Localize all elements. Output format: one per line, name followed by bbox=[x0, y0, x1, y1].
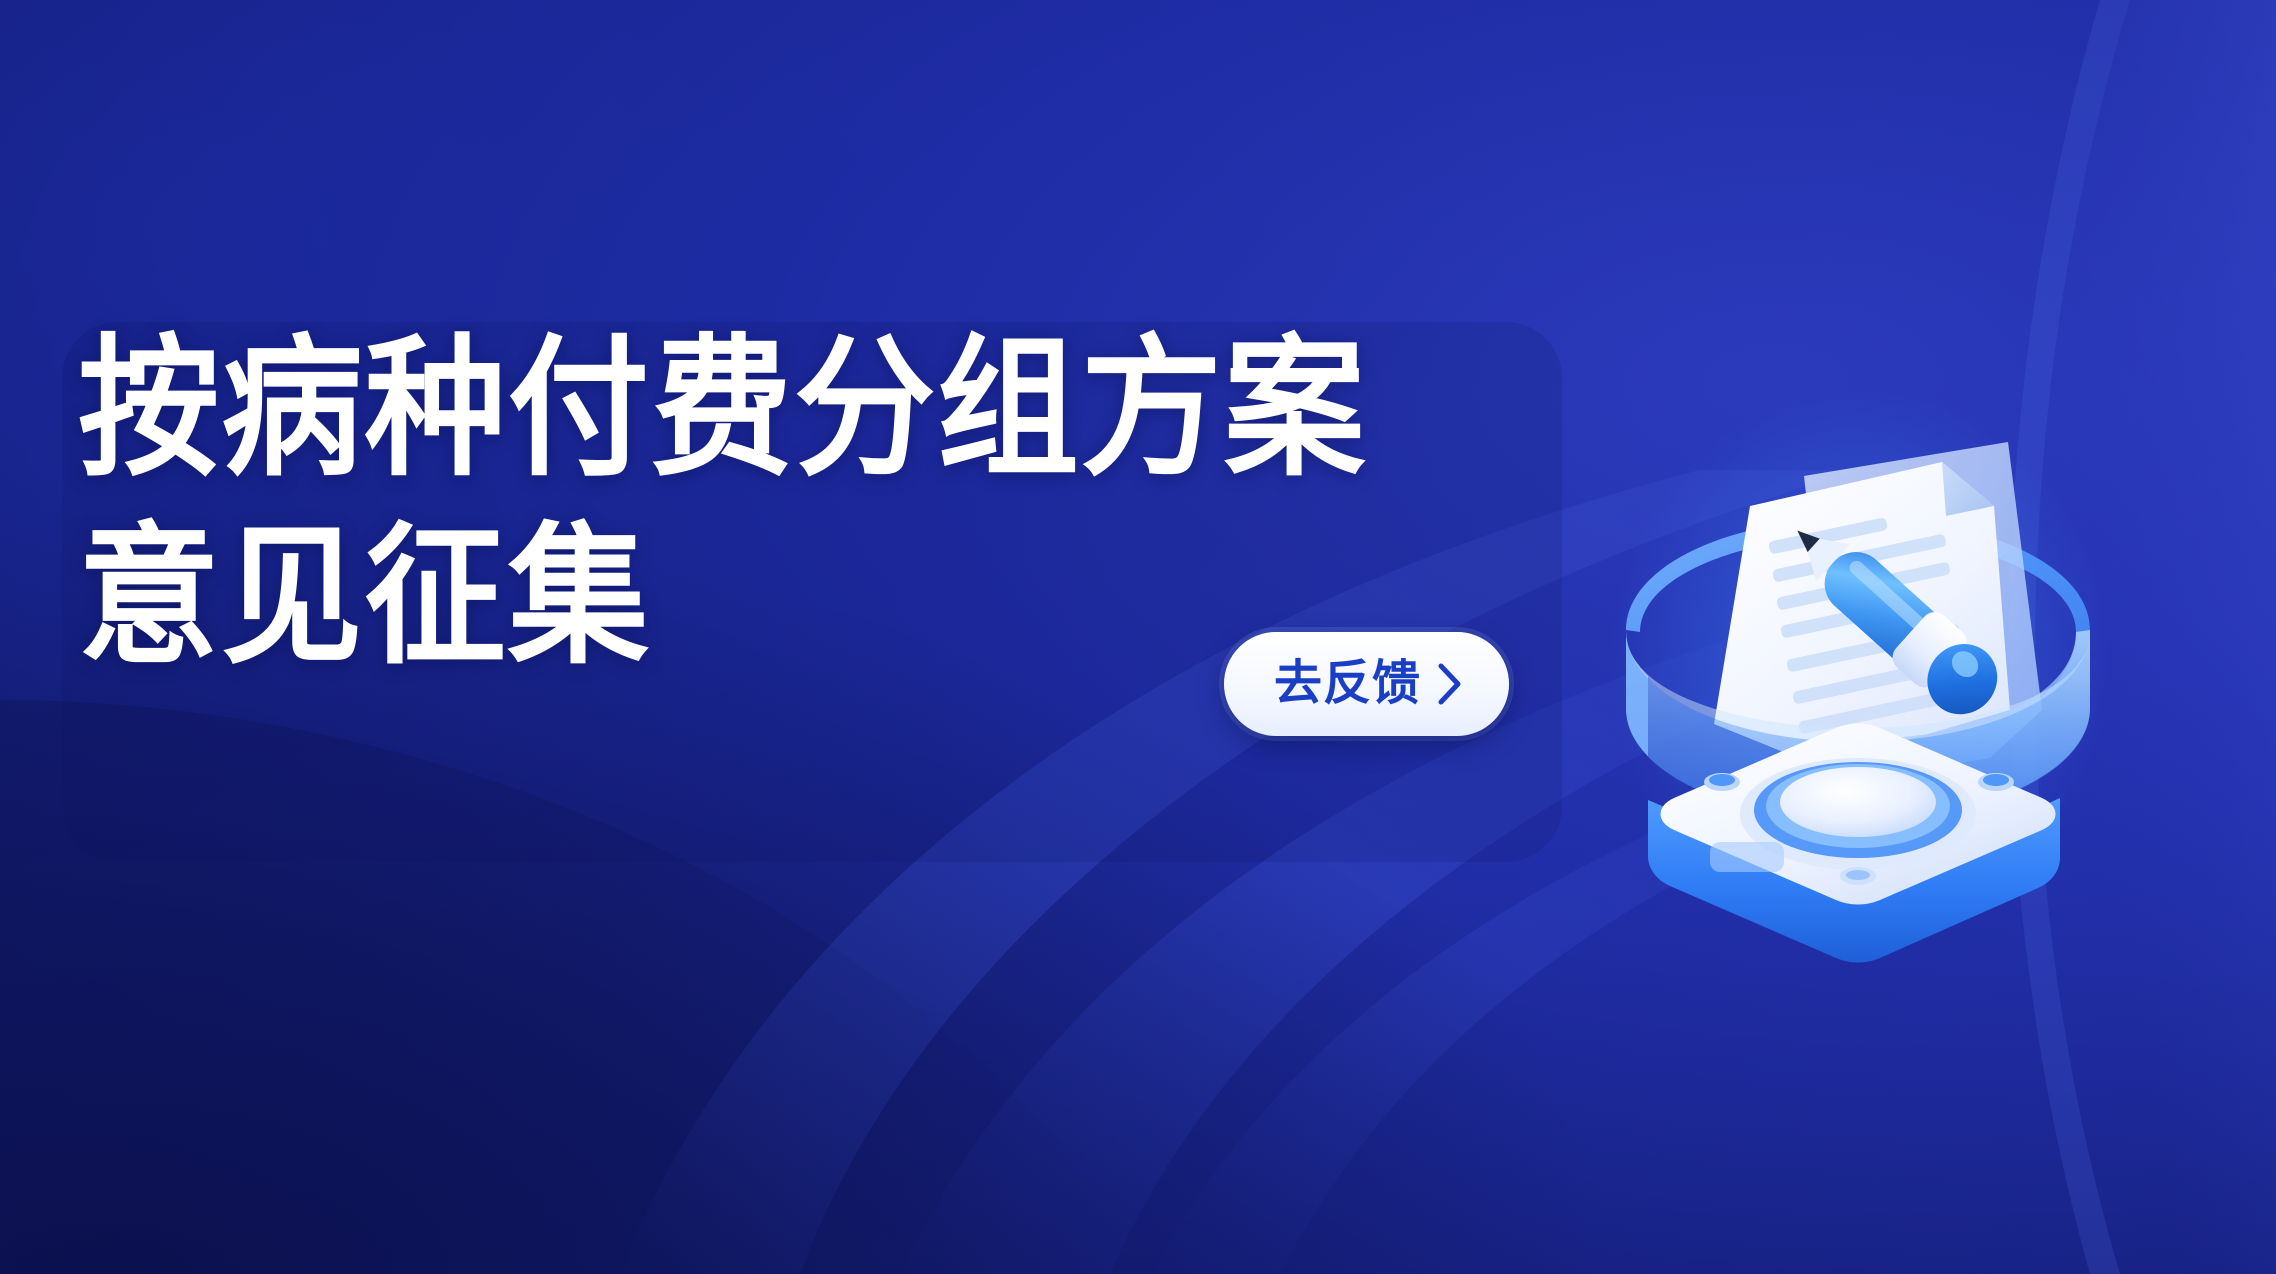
promo-banner: 按病种付费分组方案 意见征集 去反馈 bbox=[0, 0, 2276, 1274]
go-to-feedback-button[interactable]: 去反馈 bbox=[1224, 632, 1509, 736]
go-to-feedback-label: 去反馈 bbox=[1274, 660, 1421, 708]
platform-side-plate bbox=[1710, 842, 1784, 872]
headline-line-2: 意见征集 bbox=[78, 503, 1367, 691]
circular-recessed-disc bbox=[1780, 767, 1936, 837]
chevron-right-icon bbox=[1437, 662, 1463, 706]
document-with-pencil-illustration bbox=[1590, 330, 2110, 970]
headline-line-1: 按病种付费分组方案 bbox=[78, 315, 1367, 503]
